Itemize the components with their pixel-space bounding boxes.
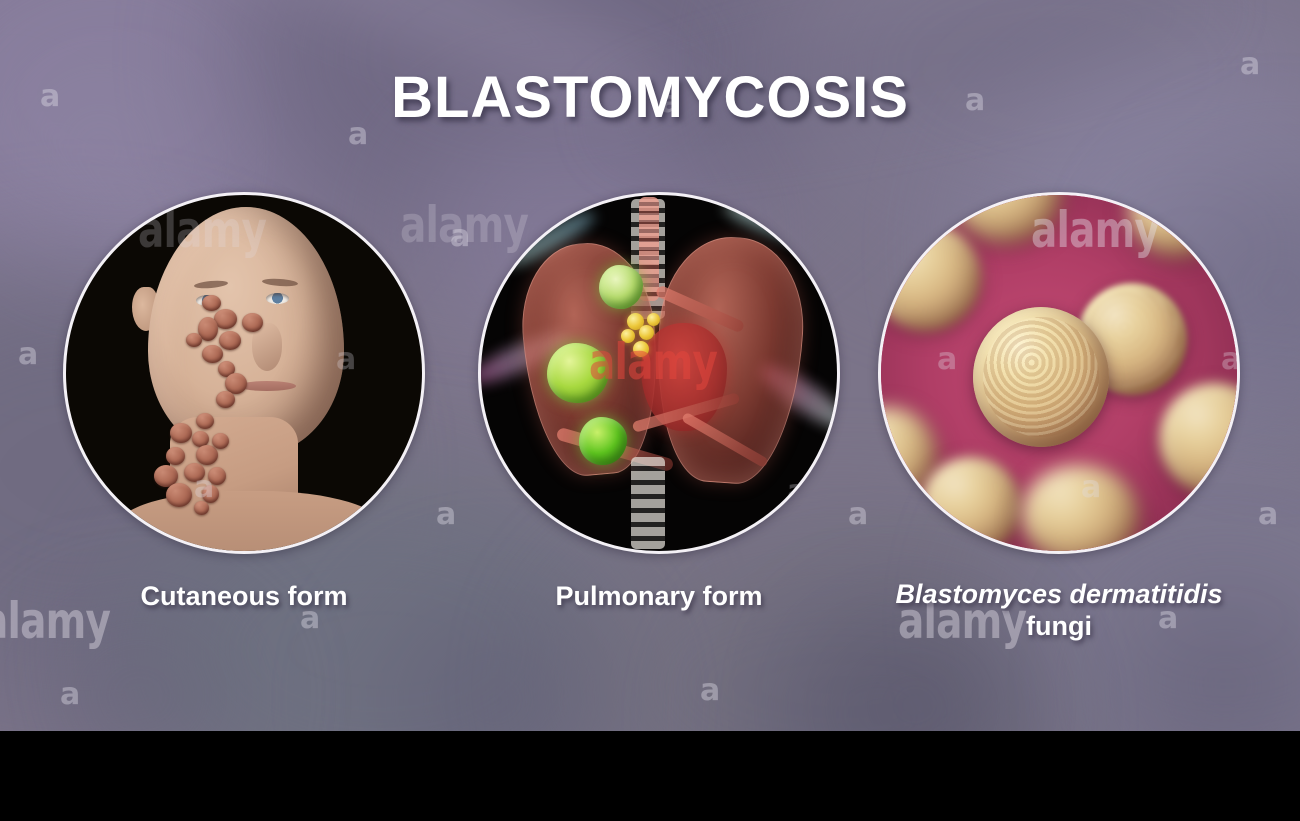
yeast-cell	[921, 457, 1021, 554]
caption-pulmonary: Pulmonary form	[478, 580, 840, 612]
shoulders-shape	[116, 491, 384, 554]
lymph-node	[647, 313, 660, 326]
pulmonary-illustration: alamy a a a a	[481, 195, 837, 551]
footer-bar: alamy Image ID: 2X0M933 www.alamy.com	[0, 731, 1300, 821]
watermark-letter-a: a	[60, 680, 80, 710]
skin-lesion	[216, 391, 235, 408]
yeast-cell	[878, 223, 981, 331]
watermark-letter-a: a	[194, 473, 214, 503]
watermark-alamy: alamy	[1031, 205, 1159, 255]
watermark-letter-a: a	[937, 345, 957, 375]
panel-cutaneous-image: alamy a a	[63, 192, 425, 554]
skin-lesion	[166, 447, 185, 465]
eye-right	[266, 293, 289, 304]
skin-lesion	[186, 333, 202, 347]
watermark-letter-a: a	[491, 219, 511, 249]
watermark-alamy: alamy	[589, 337, 717, 387]
yeast-cell	[1021, 465, 1139, 554]
skin-lesion	[196, 445, 218, 465]
illustration-canvas: a a a a a a a a a a a a a a a alamy alam…	[0, 0, 1300, 821]
watermark-letter-a: a	[848, 500, 868, 530]
spine-lower	[631, 457, 665, 549]
watermark-letter-a: a	[700, 676, 720, 706]
watermark-letter-a: a	[1081, 473, 1101, 503]
yeast-cell	[1159, 383, 1240, 495]
skin-lesion	[170, 423, 192, 443]
caption-cutaneous-text: Cutaneous form	[140, 581, 347, 611]
skin-lesion	[212, 433, 229, 449]
skin-lesion	[202, 295, 221, 311]
watermark-letter-a: a	[336, 345, 356, 375]
watermark-letter-a: a	[18, 340, 38, 370]
skin-lesion	[166, 483, 192, 507]
watermark-letter-a: a	[491, 477, 511, 507]
skin-lesion	[196, 413, 214, 429]
watermark-letter-a: a	[787, 477, 807, 507]
skin-lesion	[242, 313, 263, 332]
watermark-letter-a: a	[436, 500, 456, 530]
panel-pulmonary-image: alamy a a a a	[478, 192, 840, 554]
caption-cutaneous: Cutaneous form	[63, 580, 425, 612]
panel-fungi-image: alamy a a a	[878, 192, 1240, 554]
caption-fungi: Blastomyces dermatitidis fungi	[878, 578, 1240, 642]
skin-lesion	[219, 331, 241, 350]
watermark-letter-a: a	[1258, 500, 1278, 530]
watermark-alamy: alamy	[138, 205, 266, 255]
fungi-illustration: alamy a a a	[881, 195, 1237, 551]
caption-pulmonary-text: Pulmonary form	[555, 581, 762, 611]
watermark-letter-a: a	[787, 219, 807, 249]
yeast-cell	[973, 307, 1109, 447]
page-title: BLASTOMYCOSIS	[0, 64, 1300, 131]
cutaneous-illustration: alamy a a	[66, 195, 422, 551]
skin-lesion	[202, 345, 223, 363]
watermark-letter-a: a	[1221, 345, 1240, 375]
caption-fungi-suffix: fungi	[1026, 611, 1092, 641]
caption-fungi-species: Blastomyces dermatitidis	[895, 579, 1222, 609]
